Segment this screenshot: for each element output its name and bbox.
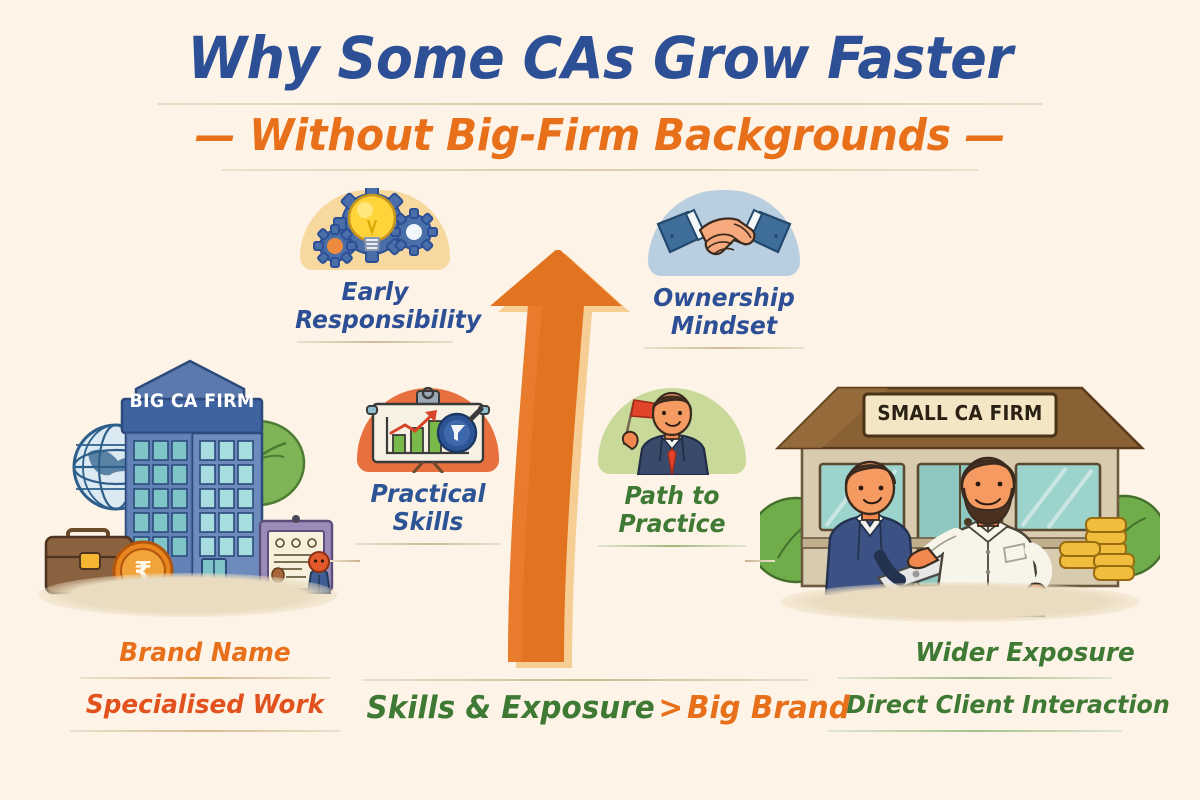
node-path-to-practice[interactable]: Path to Practice	[592, 388, 752, 547]
title-divider-1	[158, 103, 1042, 105]
right-label-divider	[838, 677, 1112, 679]
node-divider	[297, 341, 453, 343]
scene-ground-shadow	[38, 573, 338, 617]
label-line-2: Responsibility	[295, 305, 481, 334]
tagline-right: Big Brand	[687, 690, 850, 726]
connector-left	[330, 560, 360, 562]
tagline-operator: >	[659, 690, 684, 726]
page-subtitle: — Without Big-Firm Backgrounds —	[42, 110, 1158, 161]
right-label-wider-exposure: Wider Exposure	[849, 638, 1200, 668]
label-line-1: Early	[342, 277, 409, 306]
label-line-2: Skills	[393, 507, 464, 536]
tagline: Skills & Exposure>Big Brand	[367, 690, 804, 726]
node-label-early-responsibility: Early Responsibility	[295, 278, 455, 334]
left-label-divider-2	[70, 730, 340, 732]
tagline-divider	[362, 679, 809, 681]
node-early-responsibility[interactable]: Early Responsibility	[290, 190, 460, 343]
left-label-specialised-work: Specialised Work	[67, 690, 343, 720]
infographic-canvas: Why Some CAs Grow Faster — Without Big-F…	[0, 0, 1200, 800]
node-divider	[355, 543, 501, 545]
node-ownership-mindset[interactable]: Ownership Mindset	[634, 190, 814, 349]
professional-with-flag-icon	[598, 388, 746, 474]
scene-ground-shadow	[780, 582, 1140, 622]
connector-right	[745, 560, 775, 562]
label-line-1: Practical	[370, 479, 485, 508]
chart-presentation-icon	[357, 388, 499, 472]
page-title: Why Some CAs Grow Faster	[42, 24, 1158, 92]
small-ca-firm-sign: SMALL CA FIRM	[872, 401, 1049, 425]
big-ca-firm-scene: ₹	[30, 345, 350, 635]
left-label-brand-name: Brand Name	[77, 638, 334, 668]
node-label-path-to-practice: Path to Practice	[597, 482, 747, 538]
node-divider	[598, 545, 746, 547]
right-label-direct-client-interaction: Direct Client Interaction	[828, 690, 1189, 719]
node-divider	[644, 347, 804, 349]
left-label-divider	[80, 677, 330, 679]
title-divider-2	[222, 169, 978, 171]
label-line-1: Ownership	[653, 283, 795, 312]
tagline-left: Skills & Exposure	[367, 690, 655, 726]
label-line-2: Practice	[618, 509, 725, 538]
right-label-divider-2	[828, 730, 1122, 732]
node-label-practical-skills: Practical Skills	[353, 480, 503, 536]
handshake-icon	[648, 190, 800, 276]
node-practical-skills[interactable]: Practical Skills	[348, 388, 508, 545]
node-label-ownership-mindset: Ownership Mindset	[639, 284, 808, 340]
label-line-2: Mindset	[671, 311, 777, 340]
gears-lightbulb-icon	[300, 190, 450, 270]
label-line-1: Path to	[624, 481, 719, 510]
big-ca-firm-sign: BIG CA FIRM	[128, 390, 257, 412]
